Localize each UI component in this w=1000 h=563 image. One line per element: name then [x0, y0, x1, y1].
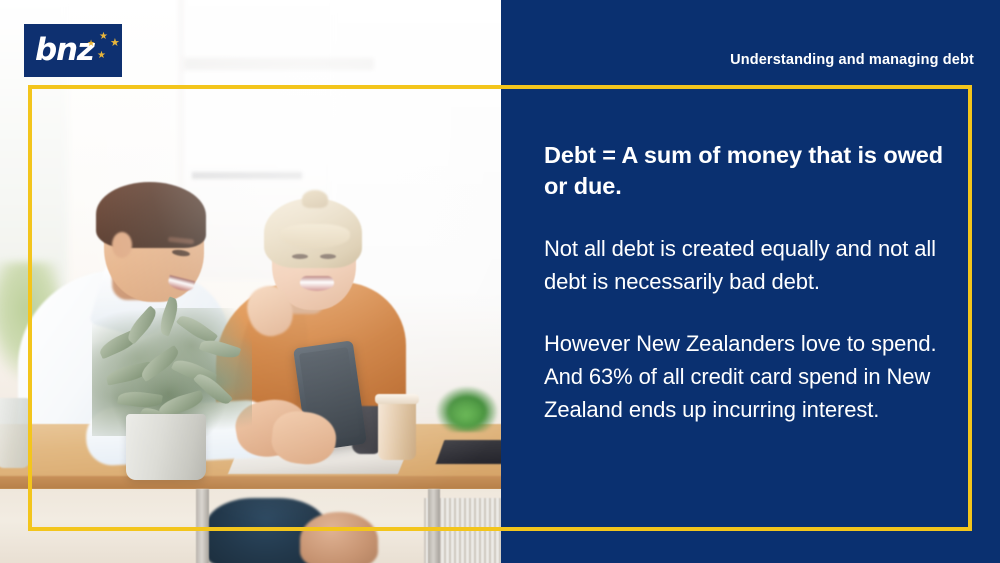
photo-blind-slat: [184, 58, 374, 70]
photo-woman-hair-bun: [302, 190, 328, 208]
photo-woman-eye-left: [292, 254, 308, 259]
photo-desk-leg: [196, 489, 209, 563]
slide-root: bnz ★ ★ ★ ★ Understanding and managing d…: [0, 0, 1000, 563]
photo-plant-pot: [126, 414, 206, 480]
photo-notebook: [436, 440, 501, 464]
photo-two-people-at-desk: [0, 0, 501, 563]
content-paragraph-1: Not all debt is created equally and not …: [544, 232, 944, 298]
content-heading: Debt = A sum of money that is owed or du…: [544, 140, 944, 202]
photo-small-green-plant-highlight: [448, 398, 488, 432]
photo-desk-edge: [0, 476, 501, 489]
star-icon: ★: [97, 50, 106, 61]
bnz-logo[interactable]: bnz ★ ★ ★ ★: [24, 24, 122, 77]
slide-text-content: Debt = A sum of money that is owed or du…: [544, 140, 944, 426]
southern-cross-stars-icon: ★ ★ ★ ★: [86, 28, 122, 68]
photo-glass-jar: [0, 398, 30, 468]
photo-coffee-cup-lid: [375, 394, 419, 404]
photo-woman-fringe: [280, 224, 350, 248]
content-paragraph-2: However New Zealanders love to spend. An…: [544, 327, 944, 426]
star-icon: ★: [110, 38, 120, 49]
photo-blind-slat-lower: [192, 172, 302, 179]
bnz-wordmark: bnz: [35, 33, 94, 67]
photo-man-ear: [112, 232, 132, 258]
star-icon: ★: [99, 31, 108, 42]
star-icon: ★: [87, 38, 95, 49]
slide-header-title: Understanding and managing debt: [730, 52, 974, 68]
photo-person-knee-second: [300, 512, 378, 563]
photo-takeaway-coffee-cup: [378, 398, 416, 460]
photo-woman-smile: [300, 276, 334, 291]
photo-desk-leg-right: [428, 489, 440, 563]
photo-woman-eye-right: [320, 254, 336, 259]
